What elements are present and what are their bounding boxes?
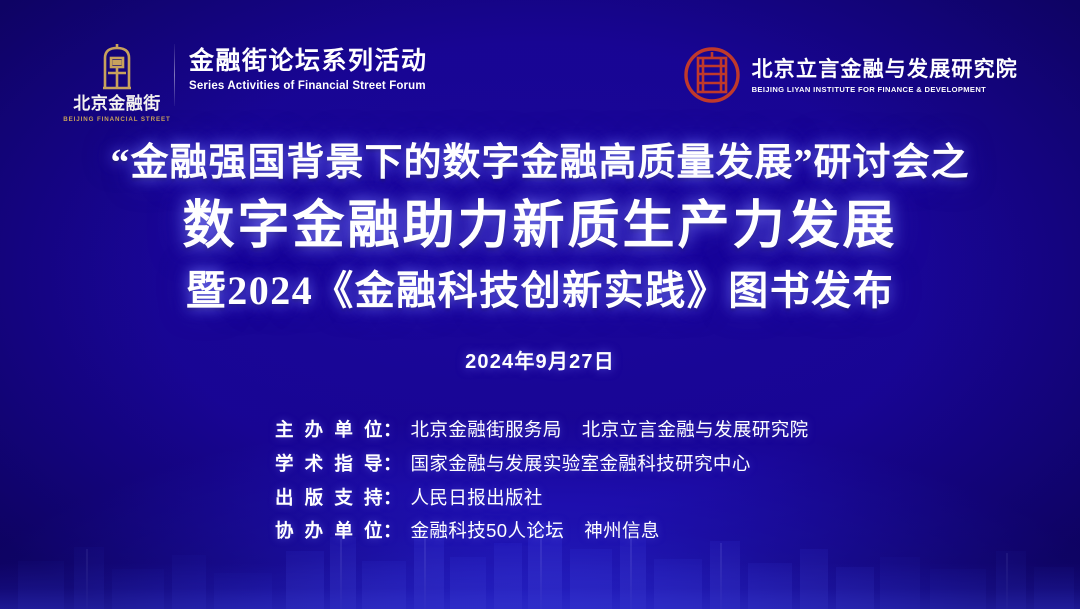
title-line-1: “金融强国背景下的数字金融高质量发展”研讨会之	[0, 140, 1080, 188]
credit-row: 出版支持：人民日报出版社	[275, 482, 805, 514]
credit-value-part: 国家金融与发展实验室金融科技研究中心	[411, 453, 751, 474]
credit-value: 北京金融街服务局北京立言金融与发展研究院	[411, 414, 809, 446]
credit-value: 国家金融与发展实验室金融科技研究中心	[411, 448, 751, 480]
liyan-title-en: BEIJING LIYAN INSTITUTE FOR FINANCE & DE…	[752, 85, 1018, 94]
credit-colon: ：	[383, 448, 411, 480]
poster-header: 北京金融街 BEIJING FINANCIAL STREET 金融街论坛系列活动…	[0, 40, 1080, 120]
forum-title-en: Series Activities of Financial Street Fo…	[189, 80, 428, 92]
logo-divider	[174, 44, 175, 106]
credit-colon: ：	[383, 482, 411, 514]
credit-value-part: 北京立言金融与发展研究院	[582, 419, 809, 440]
credit-label: 主办单位	[275, 414, 383, 446]
credit-colon: ：	[383, 414, 411, 446]
liyan-title-block: 北京立言金融与发展研究院 BEIJING LIYAN INSTITUTE FOR…	[752, 56, 1018, 93]
credit-label: 出版支持	[275, 482, 383, 514]
beijing-financial-street-logo: 北京金融街 BEIJING FINANCIAL STREET 金融街论坛系列活动…	[74, 40, 428, 123]
credit-value: 金融科技50人论坛神州信息	[411, 515, 660, 547]
title-line-3: 暨2024《金融科技创新实践》图书发布	[0, 267, 1080, 315]
credit-row: 主办单位：北京金融街服务局北京立言金融与发展研究院	[275, 414, 805, 446]
credit-value-part: 北京金融街服务局	[411, 419, 562, 440]
event-poster: 北京金融街 BEIJING FINANCIAL STREET 金融街论坛系列活动…	[0, 0, 1080, 609]
credit-label: 学术指导	[275, 448, 383, 480]
credit-value-part: 人民日报出版社	[411, 487, 543, 508]
credit-row: 学术指导：国家金融与发展实验室金融科技研究中心	[275, 448, 805, 480]
credit-value-part: 神州信息	[584, 520, 660, 541]
forum-title-block: 金融街论坛系列活动 Series Activities of Financial…	[189, 40, 428, 92]
title-line-2: 数字金融助力新质生产力发展	[0, 196, 1080, 258]
bfs-logo-mark: 北京金融街 BEIJING FINANCIAL STREET	[74, 40, 160, 123]
poster-main-title-group: “金融强国背景下的数字金融高质量发展”研讨会之 数字金融助力新质生产力发展 暨2…	[0, 140, 1080, 374]
credits-list: 主办单位：北京金融街服务局北京立言金融与发展研究院学术指导：国家金融与发展实验室…	[0, 414, 1080, 547]
credit-value-part: 金融科技50人论坛	[411, 520, 565, 541]
liyan-title-cn: 北京立言金融与发展研究院	[752, 58, 1018, 81]
credit-row: 协办单位：金融科技50人论坛神州信息	[275, 515, 805, 547]
credit-value: 人民日报出版社	[411, 482, 543, 514]
forum-title-cn: 金融街论坛系列活动	[189, 48, 428, 76]
liyan-seal-icon	[683, 46, 741, 104]
liyan-institute-logo: 北京立言金融与发展研究院 BEIJING LIYAN INSTITUTE FOR…	[683, 46, 1018, 104]
event-date: 2024年9月27日	[0, 345, 1080, 374]
credit-colon: ：	[383, 515, 411, 547]
bfs-mark-en: BEIJING FINANCIAL STREET	[63, 116, 170, 123]
credit-label: 协办单位	[275, 515, 383, 547]
bfs-mark-cn: 北京金融街	[73, 95, 161, 112]
bfs-emblem-icon	[95, 42, 139, 90]
